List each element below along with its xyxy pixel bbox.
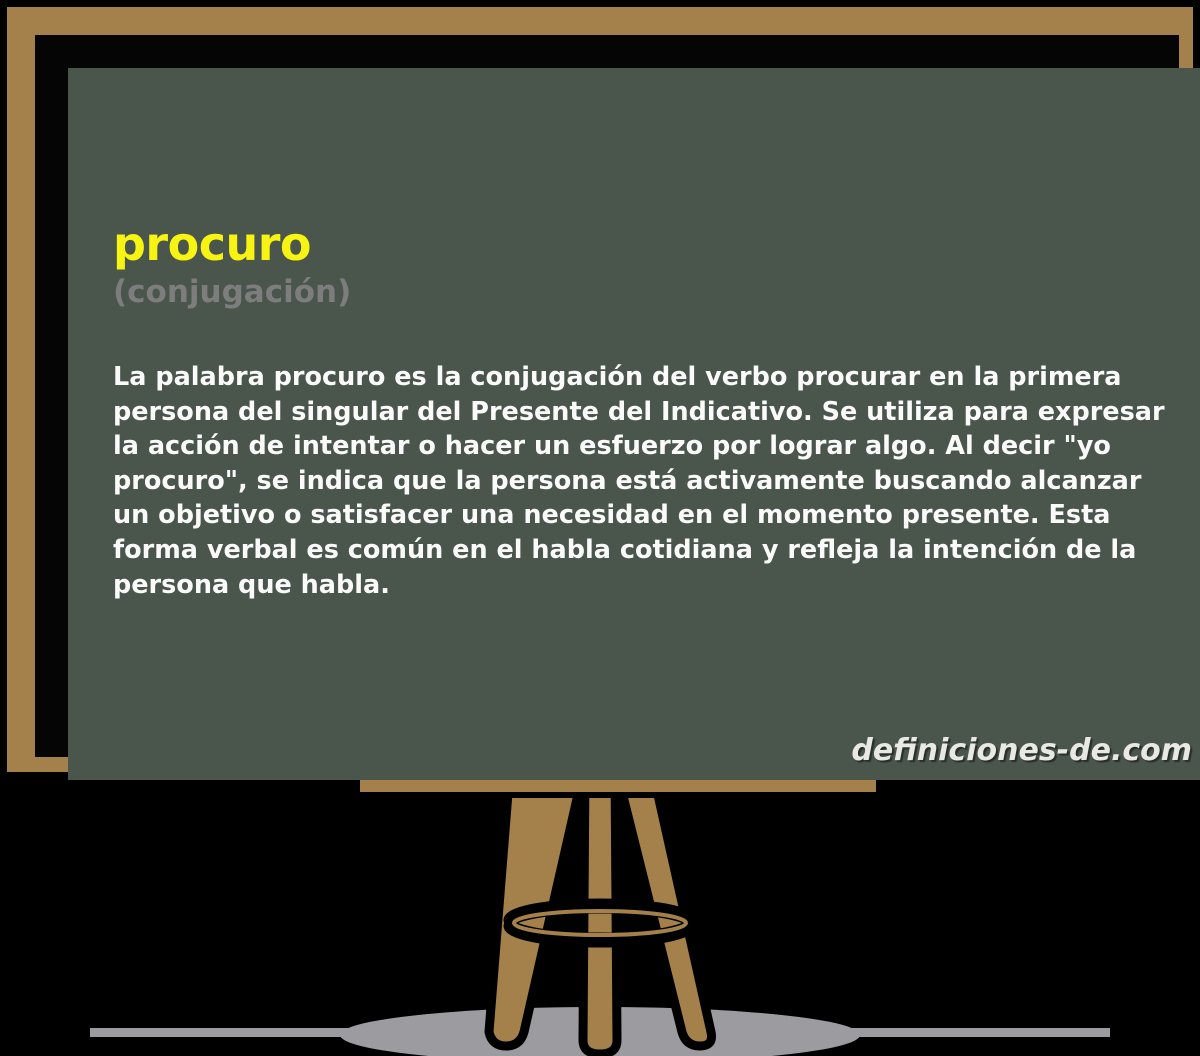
chalkboard-illustration: procuro (conjugación) La palabra procuro…: [0, 0, 1200, 1056]
site-watermark: definiciones-de.com: [851, 733, 1192, 768]
board-outer-border: procuro (conjugación) La palabra procuro…: [0, 0, 1200, 775]
board-inner-border: procuro (conjugación) La palabra procuro…: [35, 35, 1179, 757]
word-category-subtitle: (conjugación): [113, 276, 351, 309]
definition-text: La palabra procuro es la conjugación del…: [113, 360, 1168, 602]
page-title: procuro: [113, 220, 311, 268]
wooden-frame: procuro (conjugación) La palabra procuro…: [7, 7, 1193, 772]
chalkboard-surface: procuro (conjugación) La palabra procuro…: [68, 68, 1200, 780]
